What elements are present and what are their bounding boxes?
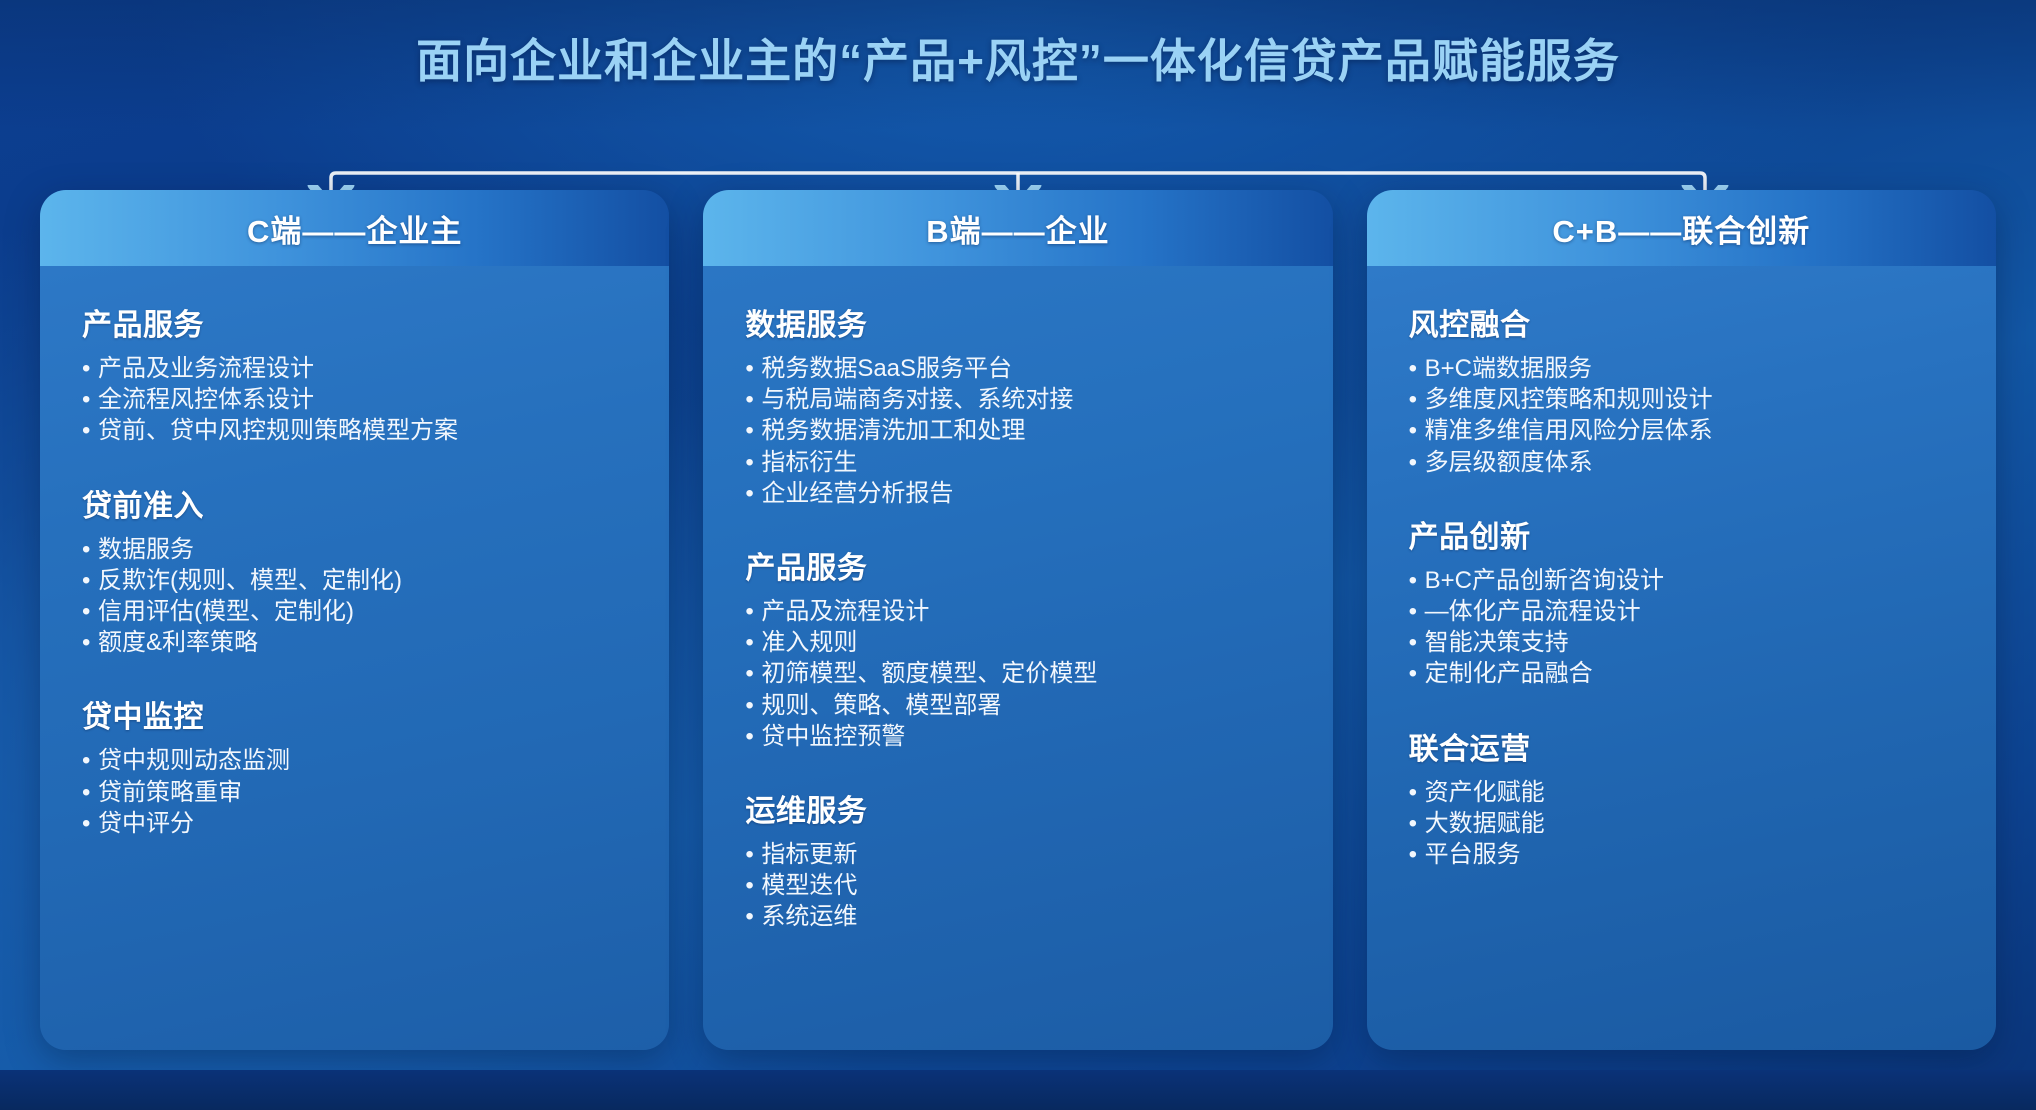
list-item: 产品及流程设计 (745, 596, 1290, 627)
card-title-c-end: C端——企业主 (247, 206, 462, 251)
list-item: B+C产品创新咨询设计 (1409, 565, 1954, 596)
card-title-b-end: B端——企业 (926, 206, 1109, 251)
list-item: 产品及业务流程设计 (82, 353, 627, 384)
section-title: 数据服务 (745, 300, 1290, 344)
bullet-list: 数据服务 反欺诈(规则、模型、定制化) 信用评估(模型、定制化) 额度&利率策略 (82, 534, 627, 659)
list-item: 智能决策支持 (1409, 627, 1954, 658)
list-item: 资产化赋能 (1409, 777, 1954, 808)
list-item: —体化产品流程设计 (1409, 596, 1954, 627)
bullet-list: 产品及业务流程设计 全流程风控体系设计 贷前、贷中风控规则策略模型方案 (82, 353, 627, 447)
list-item: 指标衍生 (745, 447, 1290, 478)
bullet-list: 产品及流程设计 准入规则 初筛模型、额度模型、定价模型 规则、策略、模型部署 贷… (745, 596, 1290, 752)
section-title: 产品服务 (745, 543, 1290, 587)
list-item: 平台服务 (1409, 839, 1954, 870)
list-item: 贷中规则动态监测 (82, 745, 627, 776)
list-item: 指标更新 (745, 839, 1290, 870)
cards-row: C端——企业主 产品服务 产品及业务流程设计 全流程风控体系设计 贷前、贷中风控… (40, 190, 1996, 1050)
card-header-c-end: C端——企业主 (40, 190, 669, 266)
card-c-plus-b[interactable]: C+B——联合创新 风控融合 B+C端数据服务 多维度风控策略和规则设计 精准多… (1367, 190, 1996, 1050)
list-item: 税务数据清洗加工和处理 (745, 415, 1290, 446)
list-item: 准入规则 (745, 627, 1290, 658)
bullet-list: 资产化赋能 大数据赋能 平台服务 (1409, 777, 1954, 871)
list-item: 贷前、贷中风控规则策略模型方案 (82, 415, 627, 446)
section-group: 产品创新 B+C产品创新咨询设计 —体化产品流程设计 智能决策支持 定制化产品融… (1409, 512, 1954, 690)
bullet-list: B+C产品创新咨询设计 —体化产品流程设计 智能决策支持 定制化产品融合 (1409, 565, 1954, 690)
card-c-end[interactable]: C端——企业主 产品服务 产品及业务流程设计 全流程风控体系设计 贷前、贷中风控… (40, 190, 669, 1050)
section-group: 产品服务 产品及流程设计 准入规则 初筛模型、额度模型、定价模型 规则、策略、模… (745, 543, 1290, 752)
bullet-list: 税务数据SaaS服务平台 与税局端商务对接、系统对接 税务数据清洗加工和处理 指… (745, 353, 1290, 509)
list-item: 精准多维信用风险分层体系 (1409, 415, 1954, 446)
section-title: 运维服务 (745, 786, 1290, 830)
card-header-c-plus-b: C+B——联合创新 (1367, 190, 1996, 266)
section-title: 贷中监控 (82, 692, 627, 736)
list-item: 贷中评分 (82, 808, 627, 839)
section-title: 联合运营 (1409, 724, 1954, 768)
bullet-list: B+C端数据服务 多维度风控策略和规则设计 精准多维信用风险分层体系 多层级额度… (1409, 353, 1954, 478)
card-b-end[interactable]: B端——企业 数据服务 税务数据SaaS服务平台 与税局端商务对接、系统对接 税… (703, 190, 1332, 1050)
section-group: 运维服务 指标更新 模型迭代 系统运维 (745, 786, 1290, 933)
list-item: 多层级额度体系 (1409, 447, 1954, 478)
list-item: 规则、策略、模型部署 (745, 690, 1290, 721)
bottom-bar (0, 1070, 2036, 1110)
list-item: 企业经营分析报告 (745, 478, 1290, 509)
list-item: 税务数据SaaS服务平台 (745, 353, 1290, 384)
list-item: 定制化产品融合 (1409, 658, 1954, 689)
section-group: 数据服务 税务数据SaaS服务平台 与税局端商务对接、系统对接 税务数据清洗加工… (745, 300, 1290, 509)
list-item: B+C端数据服务 (1409, 353, 1954, 384)
list-item: 贷中监控预警 (745, 721, 1290, 752)
section-group: 风控融合 B+C端数据服务 多维度风控策略和规则设计 精准多维信用风险分层体系 … (1409, 300, 1954, 478)
page-title-container: 面向企业和企业主的“产品+风控”一体化信贷产品赋能服务 (0, 25, 2036, 91)
page-title: 面向企业和企业主的“产品+风控”一体化信贷产品赋能服务 (416, 25, 1620, 91)
list-item: 模型迭代 (745, 870, 1290, 901)
section-title: 产品创新 (1409, 512, 1954, 556)
card-title-c-plus-b: C+B——联合创新 (1552, 206, 1810, 251)
section-group: 贷中监控 贷中规则动态监测 贷前策略重审 贷中评分 (82, 692, 627, 839)
bullet-list: 贷中规则动态监测 贷前策略重审 贷中评分 (82, 745, 627, 839)
list-item: 额度&利率策略 (82, 627, 627, 658)
card-body-c-plus-b: 风控融合 B+C端数据服务 多维度风控策略和规则设计 精准多维信用风险分层体系 … (1367, 266, 1996, 1050)
section-group: 贷前准入 数据服务 反欺诈(规则、模型、定制化) 信用评估(模型、定制化) 额度… (82, 481, 627, 659)
list-item: 系统运维 (745, 901, 1290, 932)
list-item: 大数据赋能 (1409, 808, 1954, 839)
section-title: 风控融合 (1409, 300, 1954, 344)
bullet-list: 指标更新 模型迭代 系统运维 (745, 839, 1290, 933)
list-item: 初筛模型、额度模型、定价模型 (745, 658, 1290, 689)
list-item: 与税局端商务对接、系统对接 (745, 384, 1290, 415)
card-body-b-end: 数据服务 税务数据SaaS服务平台 与税局端商务对接、系统对接 税务数据清洗加工… (703, 266, 1332, 1050)
list-item: 信用评估(模型、定制化) (82, 596, 627, 627)
list-item: 多维度风控策略和规则设计 (1409, 384, 1954, 415)
card-body-c-end: 产品服务 产品及业务流程设计 全流程风控体系设计 贷前、贷中风控规则策略模型方案… (40, 266, 669, 1050)
card-header-b-end: B端——企业 (703, 190, 1332, 266)
list-item: 贷前策略重审 (82, 777, 627, 808)
section-title: 产品服务 (82, 300, 627, 344)
list-item: 反欺诈(规则、模型、定制化) (82, 565, 627, 596)
section-title: 贷前准入 (82, 481, 627, 525)
list-item: 全流程风控体系设计 (82, 384, 627, 415)
list-item: 数据服务 (82, 534, 627, 565)
section-group: 联合运营 资产化赋能 大数据赋能 平台服务 (1409, 724, 1954, 871)
section-group: 产品服务 产品及业务流程设计 全流程风控体系设计 贷前、贷中风控规则策略模型方案 (82, 300, 627, 447)
